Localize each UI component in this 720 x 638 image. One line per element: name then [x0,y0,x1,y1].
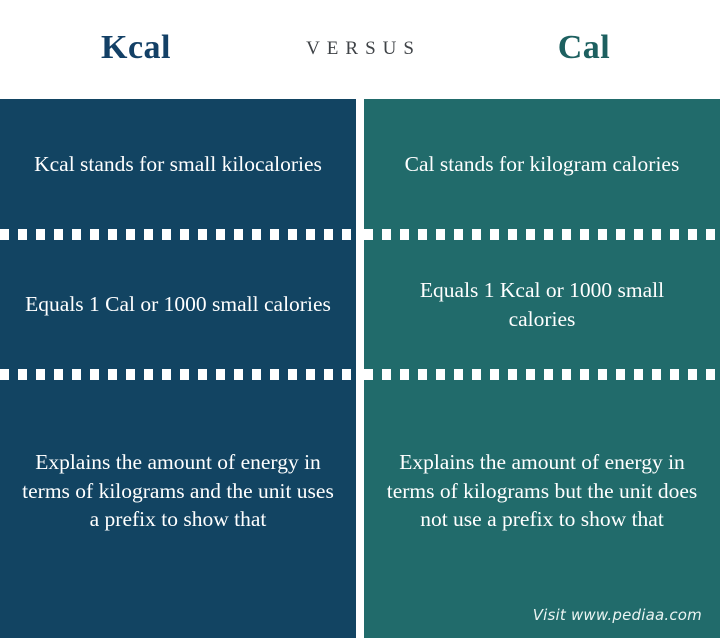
right-row-3-text: Explains the amount of energy in terms o… [386,448,698,569]
left-divider-2 [0,369,356,380]
right-row-1: Cal stands for kilogram calories [364,99,720,229]
right-row-3: Explains the amount of energy in terms o… [364,380,720,638]
left-row-3-text: Explains the amount of energy in terms o… [22,448,334,569]
left-row-2: Equals 1 Cal or 1000 small calories [0,240,356,369]
right-row-2: Equals 1 Kcal or 1000 small calories [364,240,720,369]
left-panel-kcal: Kcal stands for small kilocalories Equal… [0,99,356,638]
right-divider-1 [364,229,720,240]
left-row-3: Explains the amount of energy in terms o… [0,380,356,638]
left-column-title: Kcal [101,31,171,69]
right-row-2-text: Equals 1 Kcal or 1000 small calories [386,276,698,333]
left-row-2-text: Equals 1 Cal or 1000 small calories [22,290,334,318]
comparison-infographic: Kcal VERSUS Cal Kcal stands for small ki… [0,0,720,638]
left-divider-1 [0,229,356,240]
header-left-cell: Kcal [0,0,272,99]
right-column-title: Cal [558,31,611,69]
panel-gap [356,99,364,638]
left-row-1: Kcal stands for small kilocalories [0,99,356,229]
header-right-cell: Cal [448,0,720,99]
comparison-panels: Kcal stands for small kilocalories Equal… [0,99,720,638]
left-row-1-text: Kcal stands for small kilocalories [22,150,334,178]
source-credit: Visit www.pediaa.com [533,606,702,624]
versus-label: VERSUS [299,39,421,61]
right-row-1-text: Cal stands for kilogram calories [386,150,698,178]
header-middle-cell: VERSUS [272,0,448,99]
infographic-header: Kcal VERSUS Cal [0,0,720,99]
right-panel-cal: Cal stands for kilogram calories Equals … [364,99,720,638]
right-divider-2 [364,369,720,380]
